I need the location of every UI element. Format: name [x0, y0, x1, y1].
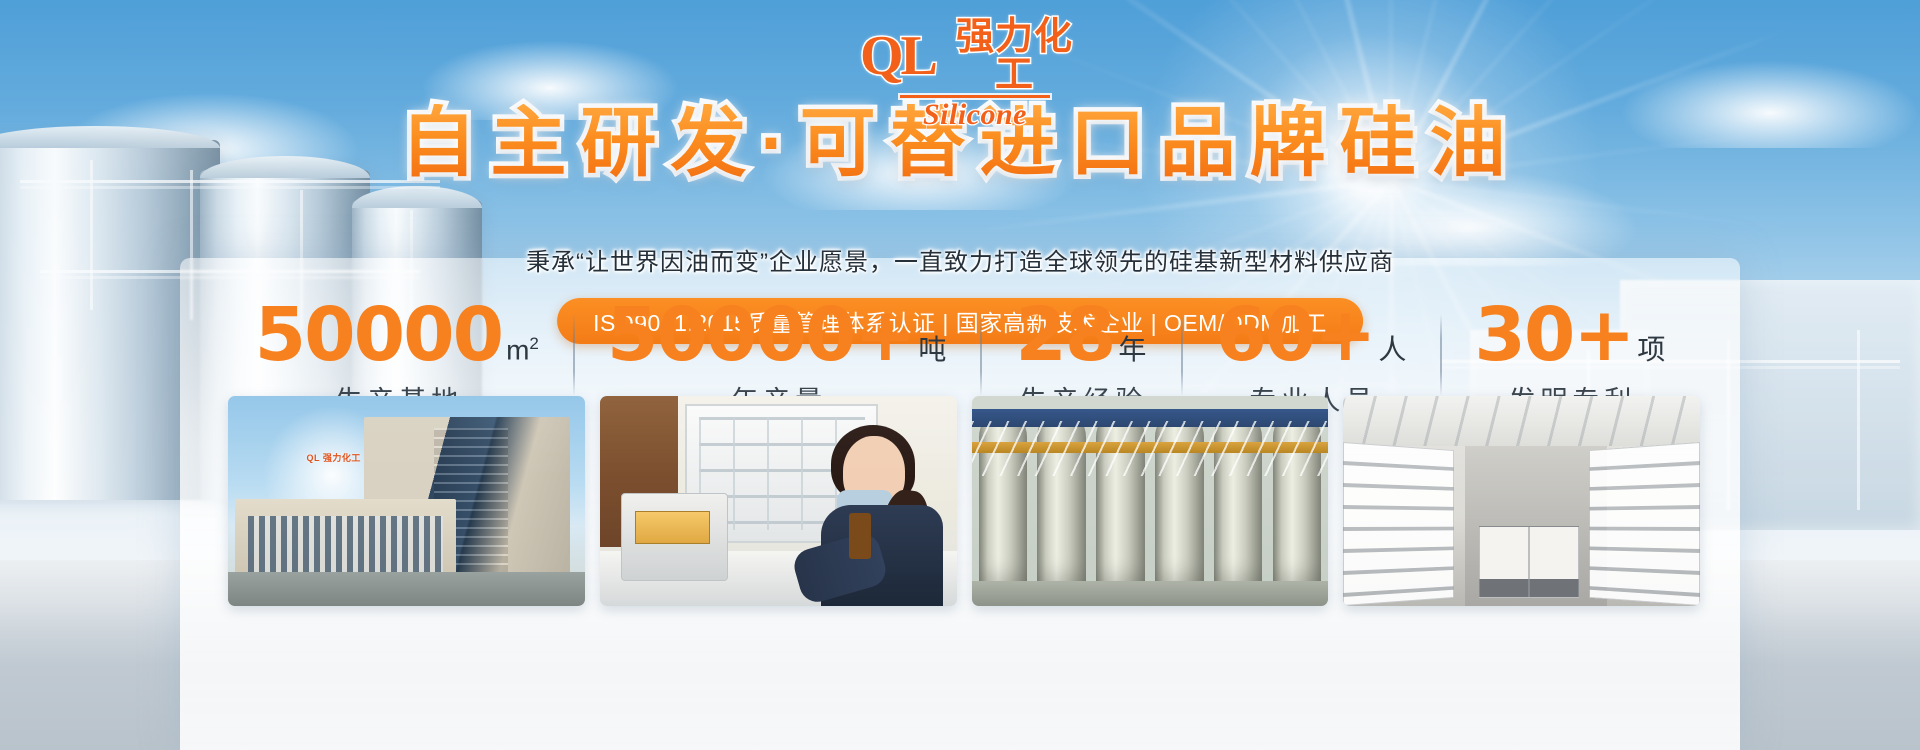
- stat-number: 28: [1015, 300, 1114, 371]
- logo-company-name: 强力化工: [939, 18, 1090, 94]
- warehouse-ibc-totes-photo[interactable]: [1343, 396, 1700, 606]
- stat-unit: m2: [506, 336, 539, 371]
- stat-unit-text: 人: [1378, 334, 1406, 365]
- stat-unit: 年: [1118, 337, 1146, 371]
- technician-figure: [792, 425, 949, 606]
- road-shape: [228, 572, 585, 606]
- stat-number: 30+: [1474, 300, 1633, 371]
- reactor-silo-array-photo[interactable]: [972, 396, 1329, 606]
- stat-value-row: 28年: [1014, 300, 1147, 371]
- stat-number: 60+: [1215, 300, 1374, 371]
- building-signage-label: QL 强力化工: [306, 451, 360, 464]
- pipework-shape: [972, 421, 1329, 476]
- warehouse-ceiling-shape: [1343, 396, 1700, 446]
- stat-number: 50000: [255, 300, 502, 371]
- stat-value-row: 60+人: [1215, 300, 1406, 371]
- stat-unit-text: m: [506, 334, 529, 365]
- sample-bottle-shape: [849, 513, 871, 559]
- stat-unit: 吨: [918, 337, 946, 371]
- stats-row: 50000m2生产基地50000+吨年产量28年生产经验60+人专业人员30+项…: [200, 300, 1720, 400]
- stat-value-row: 50000m2: [255, 300, 539, 371]
- storage-rack-right: [1589, 442, 1700, 606]
- hero-banner: QL 强力化工 Silicone 自主研发·可替进口品牌硅油 自主研发·可替进口…: [0, 0, 1920, 750]
- logo-mark: QL: [860, 28, 935, 84]
- logo-row: QL 强力化工: [860, 18, 1090, 94]
- stat-unit-text: 项: [1637, 334, 1665, 365]
- stat-unit: 人: [1378, 337, 1406, 371]
- storage-rack-left: [1343, 442, 1454, 606]
- ibc-tote-shape: [1529, 526, 1579, 597]
- photo-strip: QL 强力化工: [228, 396, 1700, 606]
- stat-unit-text: 吨: [918, 334, 946, 365]
- stat-unit: 项: [1637, 337, 1665, 371]
- logo-subtitle: Silicone: [860, 100, 1090, 130]
- factory-floor-shape: [972, 581, 1329, 606]
- stat-value-row: 50000+吨: [607, 300, 946, 371]
- laboratory-technician-photo[interactable]: [600, 396, 957, 606]
- page-subtitle: 秉承“让世界因油而变”企业愿景，一直致力打造全球领先的硅基新型材料供应商: [0, 242, 1920, 277]
- stat-unit-superscript: 2: [529, 334, 538, 353]
- stat-value-row: 30+项: [1474, 300, 1665, 371]
- ibc-tote-shape: [1479, 526, 1529, 597]
- company-logo[interactable]: QL 强力化工 Silicone: [860, 18, 1090, 110]
- lab-instrument-shape: [621, 493, 728, 581]
- stat-unit-text: 年: [1118, 334, 1146, 365]
- stat-number: 50000+: [607, 300, 914, 371]
- office-building-photo[interactable]: QL 强力化工: [228, 396, 585, 606]
